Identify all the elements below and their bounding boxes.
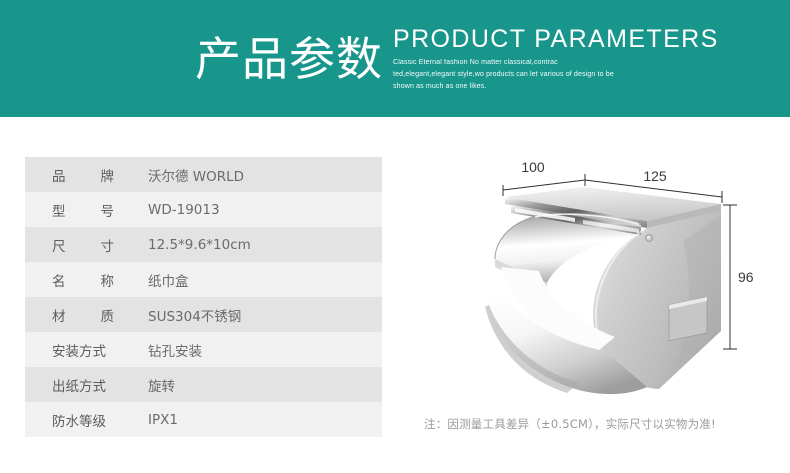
spec-value: SUS304不锈钢 (148, 305, 241, 325)
table-row: 材 质 SUS304不锈钢 (25, 297, 382, 332)
subtitle-line-1: Classic Eternal fashion No matter classi… (393, 57, 593, 69)
subtitle-line-2: ted,elegant,elegant style,wo products ca… (393, 69, 593, 81)
page-title-english: PRODUCT PARAMETERS (393, 26, 719, 52)
spec-label: 材 质 (52, 305, 114, 325)
spec-label: 品 牌 (52, 165, 114, 185)
banner-subtitle: Classic Eternal fashion No matter classi… (393, 57, 593, 94)
spec-label-char: 号 (101, 200, 115, 220)
header-banner: 产品参数 PRODUCT PARAMETERS Classic Eternal … (0, 0, 790, 117)
spec-label-char: 材 (52, 305, 66, 325)
dimension-right (723, 205, 737, 349)
spec-label-char: 牌 (101, 165, 115, 185)
banner-title-group: 产品参数 PRODUCT PARAMETERS Classic Eternal … (195, 0, 719, 117)
spec-label: 出纸方式 (52, 375, 148, 395)
spec-label: 型 号 (52, 200, 114, 220)
product-parameters-page: 产品参数 PRODUCT PARAMETERS Classic Eternal … (0, 0, 790, 473)
spec-value: 纸巾盒 (148, 270, 189, 290)
table-row: 品 牌 沃尔德 WORLD (25, 157, 382, 192)
spec-label: 防水等级 (52, 410, 148, 430)
spec-value: 钻孔安装 (148, 340, 202, 360)
banner-title-right: PRODUCT PARAMETERS Classic Eternal fashi… (393, 24, 719, 94)
subtitle-line-3: shown as much as one likes. (393, 81, 593, 93)
table-row: 防水等级 IPX1 (25, 402, 382, 437)
spec-value: 旋转 (148, 375, 175, 395)
spec-label-char: 质 (101, 305, 115, 325)
spec-label-char: 尺 (52, 235, 66, 255)
spec-value: WD-19013 (148, 202, 220, 218)
table-row: 安装方式 钻孔安装 (25, 332, 382, 367)
spec-value: 12.5*9.6*10cm (148, 237, 251, 253)
table-row: 型 号 WD-19013 (25, 192, 382, 227)
spec-label-char: 寸 (101, 235, 115, 255)
spec-label-char: 品 (52, 165, 66, 185)
spec-label-char: 型 (52, 200, 66, 220)
paper-holder-body (485, 187, 721, 394)
front-button-detail (669, 297, 707, 341)
product-illustration: 100 125 96 (455, 155, 775, 415)
page-title-chinese: 产品参数 (195, 36, 383, 82)
spec-value: IPX1 (148, 412, 178, 428)
spec-table: 品 牌 沃尔德 WORLD 型 号 WD-19013 尺 寸 12.5*9.6*… (25, 157, 382, 437)
dimension-label-125: 125 (643, 168, 667, 184)
dimension-label-96: 96 (738, 269, 754, 285)
product-diagram-svg: 100 125 96 (455, 155, 775, 415)
spec-value: 沃尔德 WORLD (148, 165, 244, 185)
table-row: 名 称 纸巾盒 (25, 262, 382, 297)
spec-label: 名 称 (52, 270, 114, 290)
table-row: 尺 寸 12.5*9.6*10cm (25, 227, 382, 262)
table-row: 出纸方式 旋转 (25, 367, 382, 402)
spec-label-char: 称 (101, 270, 115, 290)
spec-label: 安装方式 (52, 340, 148, 360)
measurement-footnote: 注：因测量工具差异（±0.5CM），实际尺寸以实物为准! (424, 416, 776, 432)
spec-label: 尺 寸 (52, 235, 114, 255)
spec-label-char: 名 (52, 270, 66, 290)
dimension-label-100: 100 (521, 159, 545, 175)
